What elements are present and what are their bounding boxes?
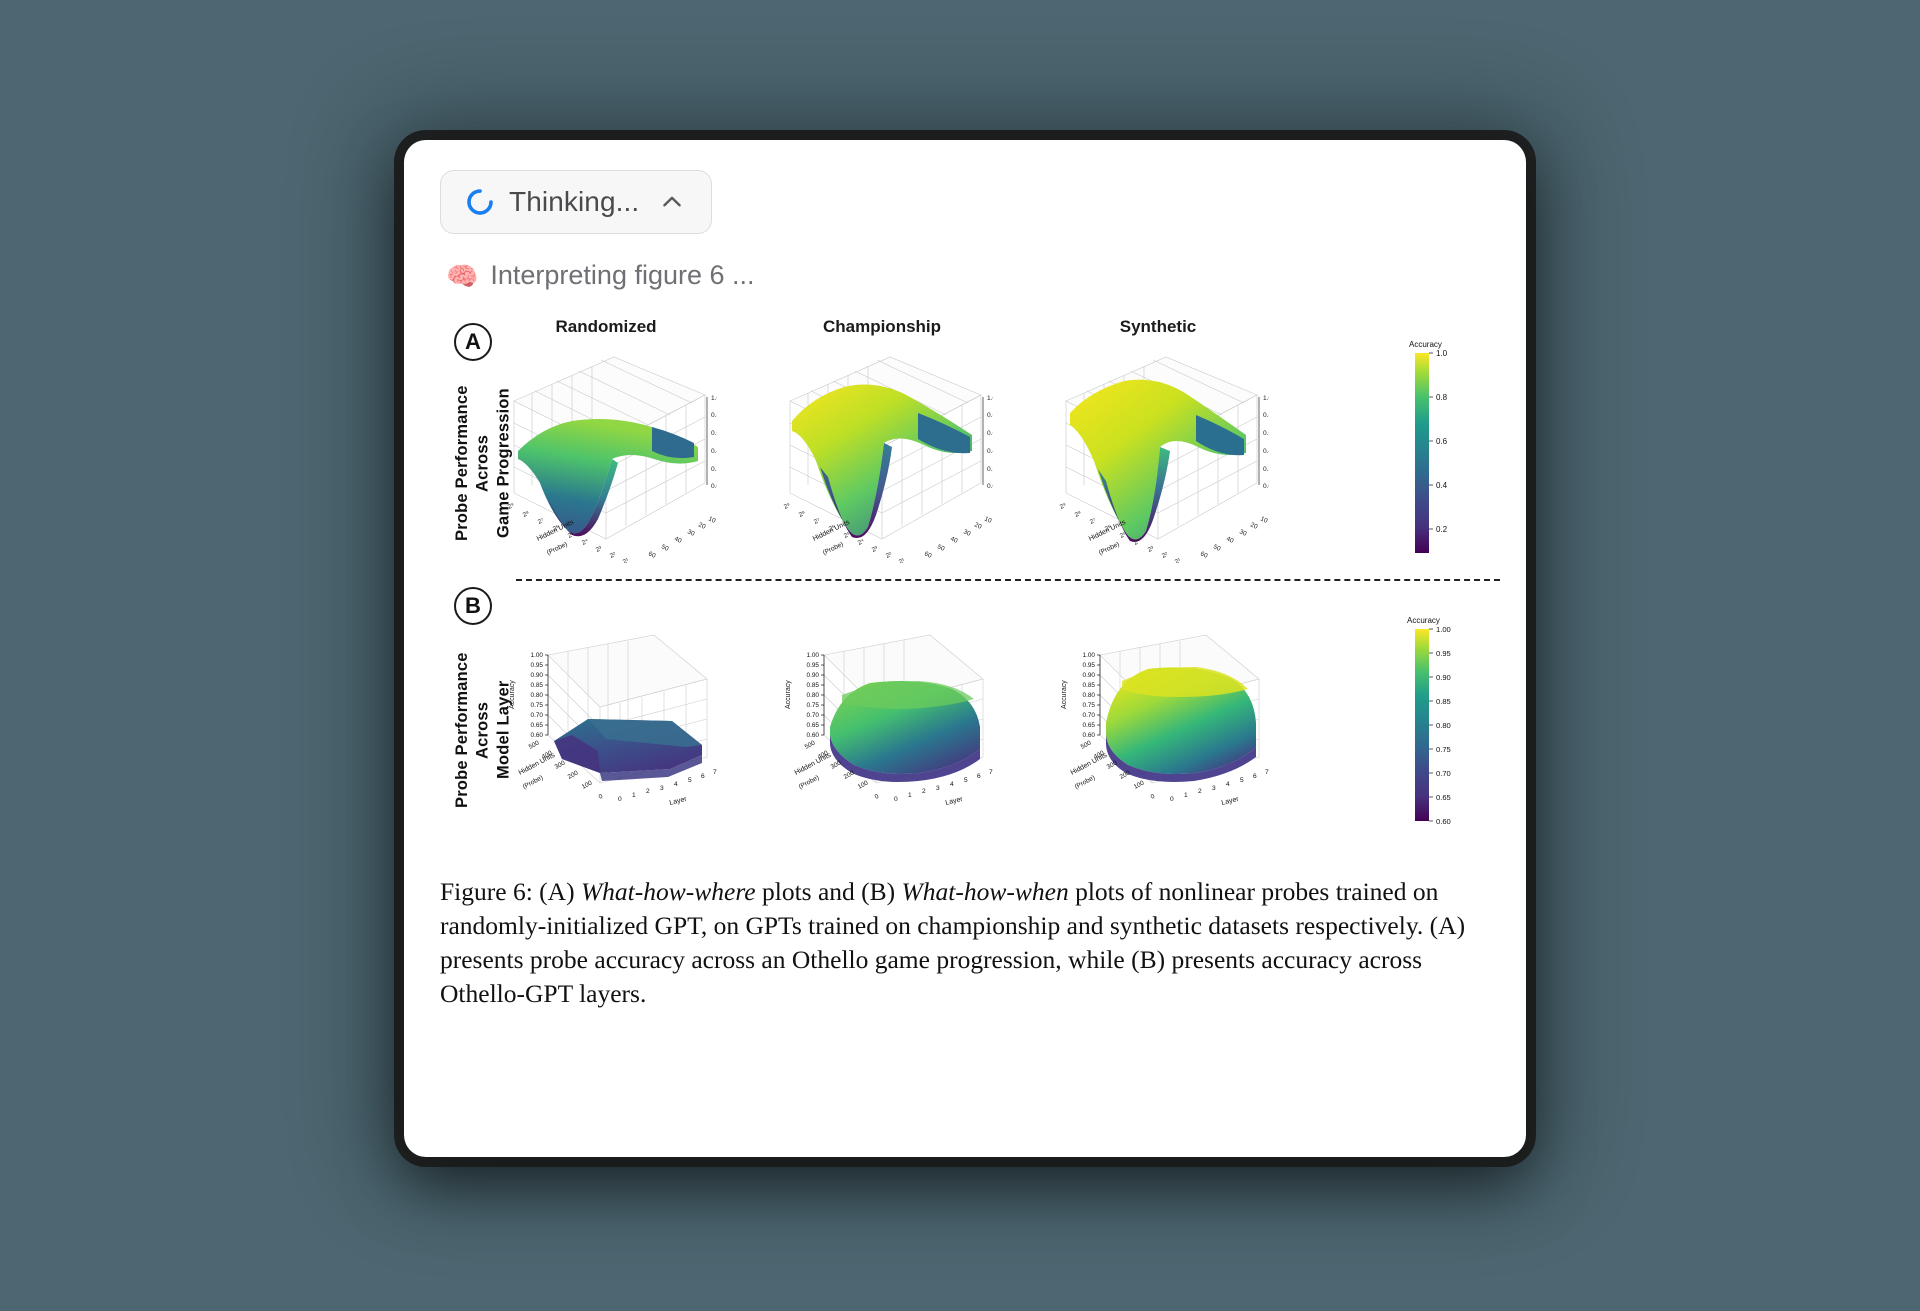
svg-text:0.85: 0.85 [1436,697,1451,706]
svg-text:100: 100 [1133,779,1146,790]
svg-text:(Probe): (Probe) [1074,774,1097,791]
svg-text:Accuracy: Accuracy [1409,340,1442,349]
svg-text:50: 50 [660,543,670,552]
svg-text:2⁸: 2⁸ [798,510,807,519]
colorbar-panel-b: Accuracy 1.000.950.90 0.850.800.75 0.700… [1395,611,1485,836]
svg-text:50: 50 [936,543,946,552]
svg-text:1: 1 [632,792,636,799]
svg-text:0.95: 0.95 [1436,649,1451,658]
svg-text:40: 40 [1225,535,1235,544]
svg-text:6: 6 [977,773,981,780]
brain-icon: 🧠 [446,263,478,289]
svg-text:0.8: 0.8 [711,412,717,419]
surface-plot-a-championship: 2⁹ 2⁸ 2⁷ 2⁶ 2⁵ 2⁴ 2³ 2² 2¹ 2⁰ Hidden Uni… [778,343,993,563]
svg-text:(Probe): (Probe) [798,774,821,791]
caption-emphasis-2: What-how-when [902,877,1069,906]
svg-text:1.00: 1.00 [1083,652,1096,659]
svg-text:0.0: 0.0 [1263,483,1269,490]
svg-text:0: 0 [992,508,993,516]
svg-text:0.70: 0.70 [1436,769,1451,778]
surface-plot-a-synthetic: 2⁹ 2⁸ 2⁷ 2⁶ 2⁵ 2⁴ 2³ 2² 2¹ 2⁰ Hidden Uni… [1054,343,1269,563]
svg-text:0.75: 0.75 [1083,702,1096,709]
svg-text:6: 6 [701,773,705,780]
svg-text:500: 500 [528,739,541,750]
svg-text:0.65: 0.65 [807,722,820,729]
svg-text:2³: 2³ [1147,545,1155,554]
svg-text:2⁴: 2⁴ [581,538,590,547]
svg-text:10: 10 [983,515,993,524]
svg-text:0.70: 0.70 [531,712,544,719]
svg-text:2²: 2² [885,551,893,560]
thinking-label: Thinking... [509,186,639,218]
svg-text:40: 40 [949,535,959,544]
svg-text:2¹: 2¹ [622,557,630,563]
svg-text:2: 2 [646,788,650,795]
svg-text:1.0: 1.0 [711,395,717,402]
svg-text:1.0: 1.0 [1436,349,1448,358]
svg-text:0: 0 [1170,796,1174,803]
panel-b-badge: B [454,587,492,625]
svg-text:2⁷: 2⁷ [1089,517,1098,526]
svg-text:3: 3 [660,785,664,792]
svg-text:2²: 2² [609,551,617,560]
chevron-up-icon[interactable] [653,189,685,215]
svg-text:0.0: 0.0 [711,483,717,490]
svg-text:1.00: 1.00 [1436,625,1451,634]
svg-text:2¹: 2¹ [898,557,906,563]
svg-text:Layer: Layer [1221,796,1240,807]
svg-text:Layer: Layer [945,796,964,807]
svg-text:Hidden Units: Hidden Units [518,752,557,777]
svg-text:5: 5 [688,777,692,784]
svg-text:7: 7 [1265,769,1269,776]
svg-text:100: 100 [581,779,594,790]
svg-text:0.4: 0.4 [987,448,993,455]
svg-text:0.85: 0.85 [1083,682,1096,689]
svg-text:0.2: 0.2 [1436,525,1448,534]
svg-text:0.6: 0.6 [1436,437,1448,446]
svg-text:0: 0 [1268,508,1269,516]
svg-text:1.00: 1.00 [807,652,820,659]
svg-text:1.0: 1.0 [987,395,993,402]
svg-text:0.8: 0.8 [1436,393,1448,402]
svg-text:0: 0 [618,796,622,803]
svg-text:0.6: 0.6 [1263,430,1269,437]
svg-text:2⁷: 2⁷ [537,517,546,526]
svg-text:500: 500 [1080,739,1093,750]
svg-text:Game Progression: Game Progression [1211,562,1267,563]
svg-text:5: 5 [964,777,968,784]
svg-text:0.70: 0.70 [1083,712,1096,719]
svg-text:1.0: 1.0 [1263,395,1269,402]
svg-text:2¹: 2¹ [1174,557,1182,563]
svg-text:0.65: 0.65 [1083,722,1096,729]
svg-text:0.75: 0.75 [1436,745,1451,754]
spinner-icon [465,187,495,217]
svg-text:0.2: 0.2 [1263,466,1269,473]
panel-b-side-label: Probe Performance AcrossModel Layer [452,635,496,825]
svg-text:0.95: 0.95 [1083,662,1096,669]
svg-text:0.6: 0.6 [711,430,717,437]
svg-text:0.80: 0.80 [531,692,544,699]
surface-plot-b-championship: 1.000.950.90 0.850.800.75 0.700.650.60 A… [778,623,993,838]
svg-text:7: 7 [989,769,993,776]
svg-text:0.95: 0.95 [531,662,544,669]
surface-plot-a-randomized: 2⁹ 2⁸ 2⁷ 2⁶ 2⁵ 2⁴ 2³ 2² 2¹ 2⁰ Hidden Uni… [502,343,717,563]
svg-text:60: 60 [923,550,933,559]
status-text: Interpreting figure 6 ... [490,260,754,291]
svg-text:0.4: 0.4 [1263,448,1269,455]
svg-text:0.75: 0.75 [807,702,820,709]
svg-text:Accuracy: Accuracy [1407,616,1440,625]
svg-text:0: 0 [1150,793,1157,801]
svg-text:0.90: 0.90 [531,672,544,679]
svg-text:200: 200 [567,769,580,780]
svg-text:30: 30 [1238,528,1248,537]
svg-text:0.85: 0.85 [531,682,544,689]
svg-text:2³: 2³ [871,545,879,554]
svg-text:0.60: 0.60 [807,732,820,739]
svg-text:0: 0 [874,793,881,801]
panel-a-badge: A [454,323,492,361]
svg-text:0.8: 0.8 [987,412,993,419]
caption-mid: plots and (B) [756,877,902,906]
svg-text:30: 30 [962,528,972,537]
figure-caption: Figure 6: (A) What-how-where plots and (… [440,875,1485,1012]
panel-b: B Probe Performance AcrossModel Layer [440,601,1490,853]
svg-text:100: 100 [857,779,870,790]
svg-text:60: 60 [1199,550,1209,559]
svg-text:0: 0 [894,796,898,803]
svg-text:0.60: 0.60 [531,732,544,739]
svg-text:10: 10 [707,515,717,524]
svg-text:1: 1 [1184,792,1188,799]
svg-text:7: 7 [713,769,717,776]
svg-text:3: 3 [1212,785,1216,792]
window-content: Thinking... 🧠 Interpreting figure 6 ... … [404,140,1526,1157]
svg-text:6: 6 [1253,773,1257,780]
svg-text:0.4: 0.4 [1436,481,1448,490]
status-line: 🧠 Interpreting figure 6 ... [446,260,1490,291]
svg-text:(Probe): (Probe) [1098,541,1121,557]
svg-text:(Probe): (Probe) [546,541,569,557]
svg-text:2⁸: 2⁸ [1074,510,1083,519]
svg-text:0.4: 0.4 [711,448,717,455]
svg-text:5: 5 [1240,777,1244,784]
svg-text:2⁷: 2⁷ [813,517,822,526]
surface-plot-b-synthetic: 1.000.950.90 0.850.800.75 0.700.650.60 A… [1054,623,1269,838]
svg-text:2³: 2³ [595,545,603,554]
plot-title-synthetic: Synthetic [1058,317,1258,337]
thinking-toggle-button[interactable]: Thinking... [440,170,712,234]
desktop-background: Thinking... 🧠 Interpreting figure 6 ... … [0,0,1920,1311]
svg-text:4: 4 [950,781,954,788]
svg-text:0.65: 0.65 [1436,793,1451,802]
svg-text:(Probe): (Probe) [522,774,545,791]
svg-text:20: 20 [697,521,707,530]
svg-text:0.80: 0.80 [1083,692,1096,699]
svg-text:0.6: 0.6 [987,430,993,437]
svg-text:0.8: 0.8 [1263,412,1269,419]
svg-text:2⁹: 2⁹ [783,502,792,511]
svg-text:Accuracy: Accuracy [509,680,516,709]
svg-text:4: 4 [674,781,678,788]
svg-text:40: 40 [673,535,683,544]
svg-text:0.90: 0.90 [807,672,820,679]
svg-text:60: 60 [647,550,657,559]
svg-text:0.0: 0.0 [987,483,993,490]
svg-text:2⁸: 2⁸ [522,510,531,519]
svg-text:0.65: 0.65 [531,722,544,729]
svg-text:Game Progression: Game Progression [935,562,991,563]
svg-text:0.95: 0.95 [807,662,820,669]
svg-text:0: 0 [598,793,605,801]
svg-text:2⁹: 2⁹ [1059,502,1068,511]
surface-plot-b-randomized: 1.000.950.90 0.850.800.75 0.700.650.60 A… [502,623,717,838]
svg-text:(Probe): (Probe) [822,541,845,557]
svg-text:2: 2 [1198,788,1202,795]
svg-text:0.90: 0.90 [1436,673,1451,682]
svg-text:0.80: 0.80 [1436,721,1451,730]
svg-text:1.00: 1.00 [531,652,544,659]
svg-text:3: 3 [936,785,940,792]
svg-text:Hidden Units: Hidden Units [1070,752,1109,777]
svg-text:20: 20 [1249,521,1259,530]
panel-divider [516,579,1500,581]
svg-text:0.70: 0.70 [807,712,820,719]
svg-text:4: 4 [1226,781,1230,788]
svg-text:0.60: 0.60 [1083,732,1096,739]
svg-text:0.90: 0.90 [1083,672,1096,679]
panel-a: A Probe Performance AcrossGame Progressi… [440,317,1490,569]
svg-text:10: 10 [1259,515,1269,524]
svg-text:2⁴: 2⁴ [857,538,866,547]
svg-text:50: 50 [1212,543,1222,552]
svg-text:2⁹: 2⁹ [507,502,516,511]
svg-text:0.2: 0.2 [711,466,717,473]
svg-text:0.2: 0.2 [987,466,993,473]
colorbar-panel-a: Accuracy 1.00.8 0.60.4 0.2 [1395,335,1481,565]
svg-text:Accuracy: Accuracy [1061,680,1068,709]
svg-text:0.80: 0.80 [807,692,820,699]
svg-text:Accuracy: Accuracy [785,680,792,709]
svg-text:0.85: 0.85 [807,682,820,689]
svg-text:20: 20 [973,521,983,530]
plot-title-championship: Championship [782,317,982,337]
plot-title-randomized: Randomized [506,317,706,337]
svg-text:Layer: Layer [669,796,688,807]
figure-6: A Probe Performance AcrossGame Progressi… [440,317,1490,857]
panel-a-side-label: Probe Performance AcrossGame Progression [452,363,496,563]
caption-prefix: Figure 6: (A) [440,877,581,906]
svg-text:30: 30 [686,528,696,537]
svg-text:2²: 2² [1161,551,1169,560]
svg-text:0.60: 0.60 [1436,817,1451,826]
svg-text:Game Progression: Game Progression [659,562,715,563]
chat-window: Thinking... 🧠 Interpreting figure 6 ... … [404,140,1526,1157]
svg-text:0.75: 0.75 [531,702,544,709]
caption-emphasis-1: What-how-where [581,877,756,906]
svg-text:500: 500 [804,739,817,750]
svg-text:Hidden Units: Hidden Units [794,752,833,777]
svg-text:300: 300 [554,759,567,770]
svg-text:0: 0 [716,508,717,516]
svg-text:1: 1 [908,792,912,799]
svg-text:2: 2 [922,788,926,795]
